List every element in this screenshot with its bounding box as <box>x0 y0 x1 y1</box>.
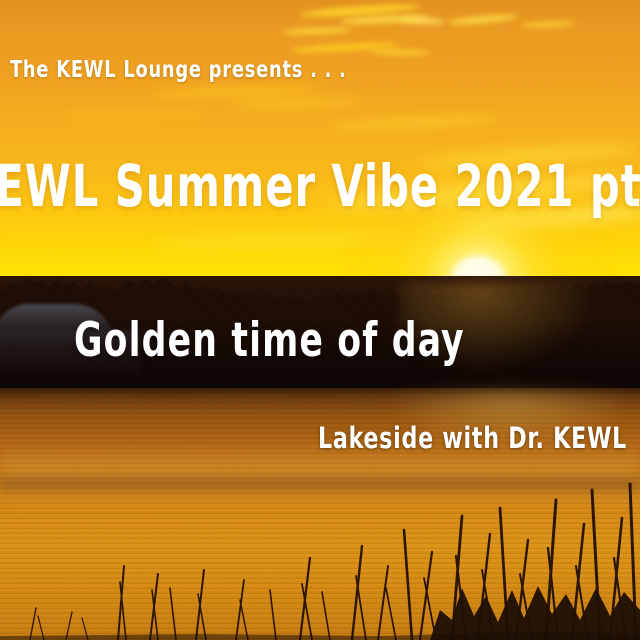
image-canvas: The KEWL Lounge presents . . . KEWL Summ… <box>0 0 640 640</box>
credit-line: Lakeside with Dr. KEWL <box>318 421 627 455</box>
presenter-line: The KEWL Lounge presents . . . <box>10 57 347 83</box>
page-title: KEWL Summer Vibe 2021 pt2 <box>0 152 640 220</box>
subtitle: Golden time of day <box>74 313 465 368</box>
foreground-reeds-silhouette <box>0 470 640 640</box>
